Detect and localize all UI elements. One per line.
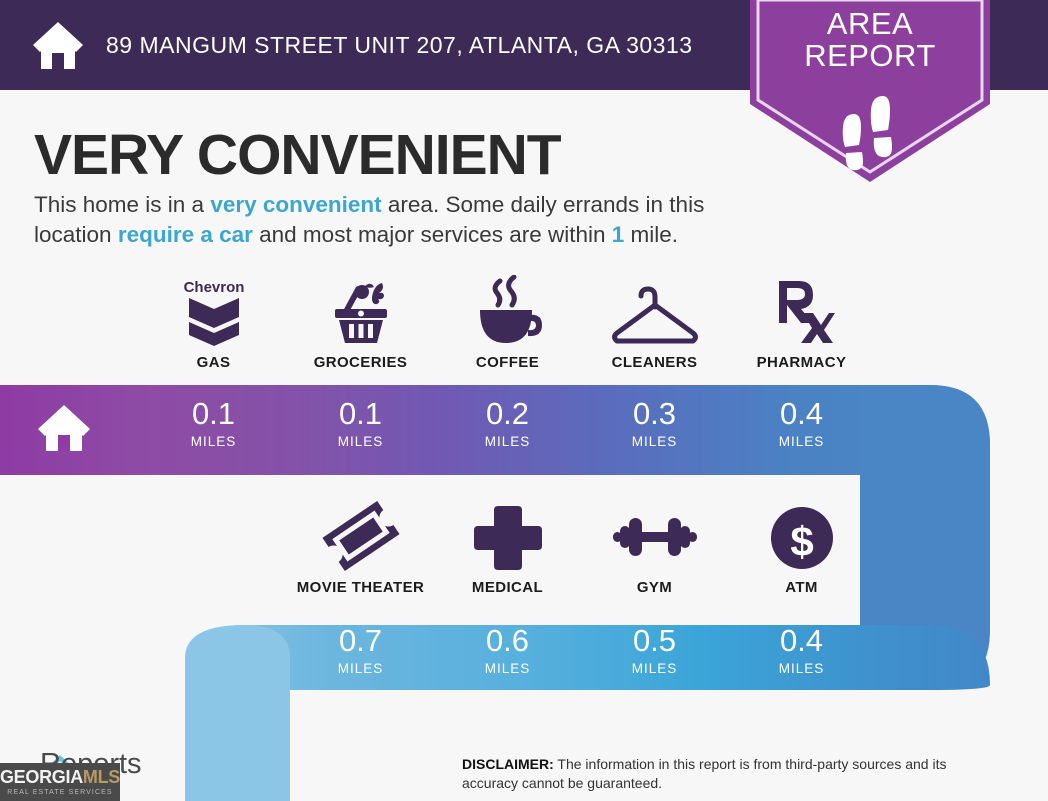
distance-value: 0.7: [287, 625, 434, 656]
distances-row-1: 0.1 MILES 0.1 MILES 0.2 MILES 0.3 MILES …: [140, 398, 875, 449]
home-icon: [36, 403, 92, 453]
chevron-wordmark: Chevron: [183, 279, 244, 296]
desc-highlight-miles: 1: [612, 222, 625, 247]
distance-unit: MILES: [581, 661, 728, 676]
amenity-cleaners: CLEANERS: [581, 275, 728, 371]
distance-value: 0.1: [140, 398, 287, 429]
mls-georgia-text: GEORGIA: [0, 767, 83, 788]
amenity-atm: $ ATM: [728, 500, 875, 596]
distance-gas: 0.1 MILES: [140, 398, 287, 449]
amenity-label: CLEANERS: [612, 354, 698, 371]
movie-ticket-icon: [320, 500, 402, 572]
summary-description: This home is in a very convenient area. …: [34, 190, 744, 251]
distance-coffee: 0.2 MILES: [434, 398, 581, 449]
property-address: 89 MANGUM STREET UNIT 207, ATLANTA, GA 3…: [106, 32, 693, 59]
amenity-icons-row-2: MOVIE THEATER MEDICAL GYM: [287, 500, 875, 596]
distance-value: 0.4: [728, 398, 875, 429]
distance-unit: MILES: [728, 434, 875, 449]
amenity-movie-theater: MOVIE THEATER: [287, 500, 434, 596]
amenity-pharmacy: PHARMACY: [728, 275, 875, 371]
amenity-label: GAS: [197, 354, 231, 371]
distance-medical: 0.6 MILES: [434, 625, 581, 676]
distances-row-2: 0.7 MILES 0.6 MILES 0.5 MILES 0.4 MILES: [287, 625, 875, 676]
desc-part-1: This home is in a: [34, 192, 210, 217]
dollar-circle-icon: $: [766, 500, 838, 572]
distance-unit: MILES: [434, 661, 581, 676]
distance-movie-theater: 0.7 MILES: [287, 625, 434, 676]
distance-unit: MILES: [287, 434, 434, 449]
medical-cross-icon: [474, 500, 542, 572]
amenity-medical: MEDICAL: [434, 500, 581, 596]
rx-prescription-icon: [769, 275, 835, 347]
disclaimer-label: DISCLAIMER:: [462, 756, 554, 772]
distance-cleaners: 0.3 MILES: [581, 398, 728, 449]
dollar-sign: $: [790, 518, 813, 565]
home-icon: [30, 17, 86, 73]
desc-part-3: and most major services are within: [253, 222, 612, 247]
badge-line-1: AREA: [750, 8, 990, 40]
page-title: VERY CONVENIENT: [34, 122, 561, 188]
amenity-gym: GYM: [581, 500, 728, 596]
disclaimer: DISCLAIMER: The information in this repo…: [462, 755, 992, 793]
dumbbell-icon: [609, 500, 701, 572]
amenity-label: GROCERIES: [314, 354, 408, 371]
distance-value: 0.5: [581, 625, 728, 656]
distance-pharmacy: 0.4 MILES: [728, 398, 875, 449]
mls-tagline: REAL ESTATE SERVICES: [0, 789, 120, 796]
desc-highlight-car: require a car: [118, 222, 253, 247]
distance-value: 0.3: [581, 398, 728, 429]
chevron-gas-logo-icon: Chevron: [181, 275, 247, 347]
amenity-label: MEDICAL: [472, 579, 543, 596]
desc-part-4: mile.: [624, 222, 678, 247]
distance-atm: 0.4 MILES: [728, 625, 875, 676]
distance-unit: MILES: [140, 434, 287, 449]
distance-unit: MILES: [581, 434, 728, 449]
distance-unit: MILES: [434, 434, 581, 449]
home-marker: [36, 403, 92, 453]
amenity-gas: Chevron GAS: [140, 275, 287, 371]
distance-unit: MILES: [728, 661, 875, 676]
area-report-badge: AREA REPORT: [750, 0, 990, 182]
amenity-label: PHARMACY: [757, 354, 847, 371]
distance-gym: 0.5 MILES: [581, 625, 728, 676]
desc-highlight-convenient: very convenient: [210, 192, 381, 217]
amenity-coffee: COFFEE: [434, 275, 581, 371]
grocery-basket-icon: [325, 275, 397, 347]
distance-value: 0.6: [434, 625, 581, 656]
amenity-icons-row-1: Chevron GAS GROCERIES: [140, 275, 875, 371]
clothes-hanger-icon: [609, 275, 701, 347]
mls-mls-text: MLS: [83, 767, 120, 788]
coffee-cup-icon: [470, 275, 546, 347]
georgia-mls-logo: GEORGIAMLS REAL ESTATE SERVICES: [0, 763, 120, 801]
amenity-label: ATM: [785, 579, 818, 596]
amenity-label: COFFEE: [476, 354, 539, 371]
distance-unit: MILES: [287, 661, 434, 676]
distance-value: 0.1: [287, 398, 434, 429]
amenity-groceries: GROCERIES: [287, 275, 434, 371]
amenity-label: MOVIE THEATER: [297, 579, 424, 596]
distance-value: 0.4: [728, 625, 875, 656]
amenity-label: GYM: [637, 579, 672, 596]
distance-groceries: 0.1 MILES: [287, 398, 434, 449]
badge-line-2: REPORT: [750, 40, 990, 72]
badge-title: AREA REPORT: [750, 8, 990, 71]
distance-value: 0.2: [434, 398, 581, 429]
